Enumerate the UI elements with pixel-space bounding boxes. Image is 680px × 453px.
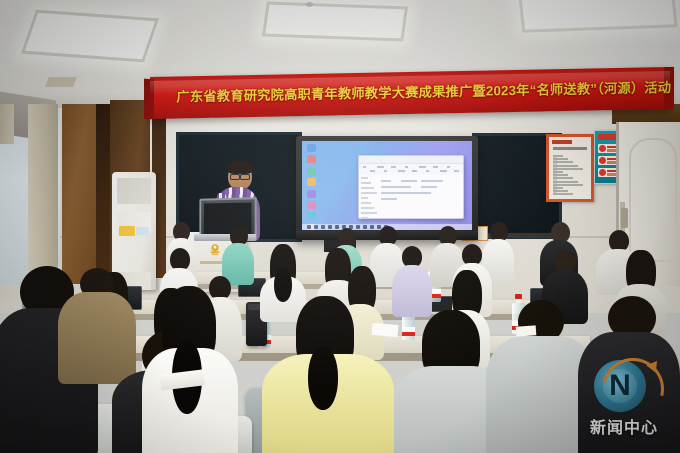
poster-title-line [553, 147, 587, 150]
row-badge-icon [599, 169, 606, 176]
poster-header [552, 140, 572, 144]
poster-text-line [553, 158, 568, 160]
poster-text-line [553, 174, 568, 176]
row-text [607, 170, 616, 173]
row-text [607, 158, 616, 161]
ac-vent-grill [117, 178, 151, 204]
poster-text-line [553, 168, 583, 170]
poster-text-line [553, 161, 573, 163]
person-ponytail [308, 346, 338, 410]
person-torso [392, 265, 432, 317]
curtain [28, 104, 58, 279]
poster-text-line [553, 177, 573, 179]
ceiling-sensor-icon [306, 2, 313, 7]
ac-sticker [136, 227, 149, 235]
row-text [607, 146, 616, 149]
paper-handout [372, 323, 399, 337]
screen-glare [302, 141, 472, 230]
ac-energy-label [119, 226, 135, 236]
watermark-label: 新闻中心 [576, 414, 672, 438]
regulations-notice-poster [546, 134, 594, 202]
door-handle[interactable] [621, 208, 628, 228]
audience-member [222, 226, 254, 282]
bottle-cap [515, 294, 522, 299]
audience-member [392, 246, 432, 316]
poster-text-line [553, 190, 568, 192]
ceiling-light-panel [21, 10, 159, 63]
paper-handout [516, 325, 537, 336]
row-badge-icon [599, 145, 606, 152]
poster-text-line [553, 187, 563, 189]
ceiling-light-panel [262, 2, 408, 42]
poster-text-line [553, 181, 578, 183]
smart-board-display[interactable] [296, 136, 478, 240]
curtain [0, 104, 14, 144]
row-badge-icon [599, 157, 606, 164]
ceiling-light-panel [518, 0, 677, 33]
poster-text-line [553, 193, 573, 195]
poster-text-line [553, 171, 563, 173]
classroom-seminar-photo: 广东省教育研究院高职青年教师教学大赛成果推广暨2023年“名师送教”（河源）活动 [0, 0, 680, 453]
ceiling-vent [45, 77, 77, 87]
poster-text-line [553, 165, 578, 167]
poster-text-line [553, 155, 563, 157]
screen-content[interactable] [302, 141, 472, 230]
audience-member-foreground [142, 286, 238, 453]
poster-text-line [553, 184, 583, 186]
presenter-hair [227, 161, 253, 174]
wood-wall-panel [62, 104, 98, 284]
news-center-watermark: N 新闻中心 [576, 358, 672, 448]
eyeglasses-icon [230, 174, 250, 178]
person-ponytail [274, 268, 292, 302]
